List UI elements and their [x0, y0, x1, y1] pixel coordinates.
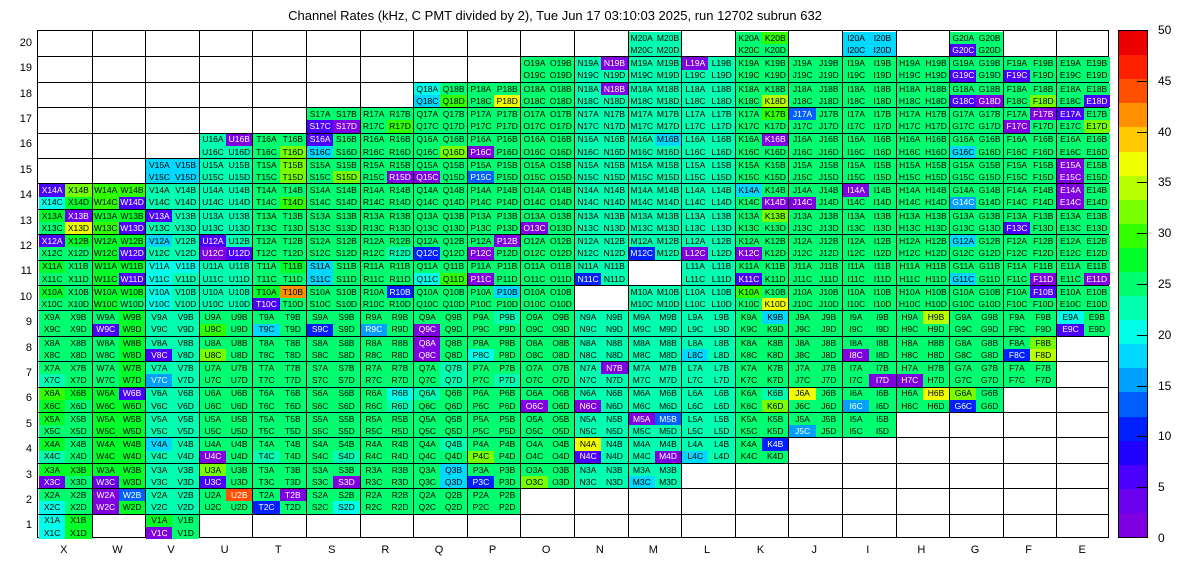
channel-pad[interactable]: M17B	[655, 108, 681, 120]
channel-pad[interactable]: W4C	[93, 451, 119, 463]
channel-pad[interactable]: S13A	[307, 210, 333, 222]
channel-pad[interactable]: P17B	[494, 108, 520, 120]
channel-pad[interactable]: M3B	[655, 464, 681, 476]
channel-pad[interactable]: Q10D	[440, 298, 466, 310]
channel-pad[interactable]: P10A	[468, 286, 494, 298]
channel-pad[interactable]: G20D	[976, 44, 1002, 56]
channel-pad[interactable]: O13B	[548, 210, 574, 222]
detector-module[interactable]: X11AX11BX11CX11D	[39, 261, 92, 285]
channel-pad[interactable]: L4B	[708, 438, 734, 450]
channel-pad[interactable]: H11B	[923, 261, 949, 273]
channel-pad[interactable]: G10A	[950, 286, 976, 298]
channel-pad[interactable]: L19B	[708, 57, 734, 69]
channel-pad[interactable]: L4D	[708, 451, 734, 463]
channel-pad[interactable]: R8C	[361, 349, 387, 361]
channel-pad[interactable]: U10A	[200, 286, 226, 298]
channel-pad[interactable]: W3D	[119, 476, 145, 488]
channel-pad[interactable]: P4B	[494, 438, 520, 450]
channel-pad[interactable]: S16B	[333, 134, 359, 146]
channel-pad[interactable]: H15C	[897, 171, 923, 183]
detector-module[interactable]: G7AG7BG7CG7D	[950, 362, 1003, 386]
channel-pad[interactable]: I14D	[869, 197, 895, 209]
channel-pad[interactable]: J16B	[816, 134, 842, 146]
detector-module[interactable]: T15AT15BT15CT15D	[253, 159, 306, 183]
channel-pad[interactable]: J5B	[816, 413, 842, 425]
detector-module[interactable]: G16AG16BG16CG16D	[950, 134, 1003, 158]
channel-pad[interactable]: M18B	[655, 83, 681, 95]
channel-pad[interactable]: G17D	[976, 120, 1002, 132]
channel-pad[interactable]: S5D	[333, 425, 359, 437]
detector-module[interactable]: X5AX5BX5CX5D	[39, 413, 92, 437]
channel-pad[interactable]: X5C	[39, 425, 65, 437]
channel-pad[interactable]: L5C	[682, 425, 708, 437]
detector-module[interactable]: M4AM4BM4CM4D	[629, 438, 682, 462]
channel-pad[interactable]: J18A	[789, 83, 815, 95]
channel-pad[interactable]: X2C	[39, 501, 65, 513]
channel-pad[interactable]: J10D	[816, 298, 842, 310]
detector-module[interactable]: S9AS9BS9CS9D	[307, 311, 360, 335]
detector-module[interactable]: U14AU14BU14CU14D	[200, 184, 253, 208]
channel-pad[interactable]: N14C	[575, 197, 601, 209]
channel-pad[interactable]: T7C	[253, 374, 279, 386]
channel-pad[interactable]: M12C	[629, 247, 655, 259]
detector-module[interactable]: N11AN11BN11CN11D	[575, 261, 628, 285]
channel-pad[interactable]: Q4A	[414, 438, 440, 450]
channel-pad[interactable]: N12C	[575, 247, 601, 259]
channel-pad[interactable]: Q2A	[414, 489, 440, 501]
channel-pad[interactable]: G11B	[976, 261, 1002, 273]
channel-pad[interactable]: F8C	[1004, 349, 1030, 361]
detector-module[interactable]: T13AT13BT13CT13D	[253, 210, 306, 234]
detector-module[interactable]: G18AG18BG18CG18D	[950, 83, 1003, 107]
channel-pad[interactable]: T12B	[280, 235, 306, 247]
channel-pad[interactable]: W4B	[119, 438, 145, 450]
channel-pad[interactable]: M16B	[655, 134, 681, 146]
channel-pad[interactable]: F7B	[1030, 362, 1056, 374]
channel-pad[interactable]: Q9A	[414, 311, 440, 323]
channel-pad[interactable]: R2D	[387, 501, 413, 513]
channel-pad[interactable]: W5C	[93, 425, 119, 437]
channel-pad[interactable]: J13B	[816, 210, 842, 222]
channel-pad[interactable]: H10B	[923, 286, 949, 298]
channel-pad[interactable]: M18C	[629, 95, 655, 107]
channel-pad[interactable]: I8B	[869, 337, 895, 349]
channel-pad[interactable]: K11B	[762, 261, 788, 273]
channel-pad[interactable]: U13C	[200, 222, 226, 234]
channel-pad[interactable]: H13D	[923, 222, 949, 234]
channel-pad[interactable]: N16A	[575, 134, 601, 146]
channel-pad[interactable]: E13A	[1057, 210, 1083, 222]
detector-module[interactable]: K9AK9BK9CK9D	[736, 311, 789, 335]
detector-module[interactable]: G17AG17BG17CG17D	[950, 108, 1003, 132]
channel-pad[interactable]: H12C	[897, 247, 923, 259]
channel-pad[interactable]: E16D	[1084, 146, 1110, 158]
detector-module[interactable]: F18AF18BF18CF18D	[1004, 83, 1057, 107]
channel-pad[interactable]: V6D	[172, 400, 198, 412]
channel-pad[interactable]: H15D	[923, 171, 949, 183]
channel-pad[interactable]: K10B	[762, 286, 788, 298]
channel-pad[interactable]: M15A	[629, 159, 655, 171]
channel-pad[interactable]: T3A	[253, 464, 279, 476]
channel-pad[interactable]: K7D	[762, 374, 788, 386]
channel-pad[interactable]: W8C	[93, 349, 119, 361]
channel-pad[interactable]: F13B	[1030, 210, 1056, 222]
channel-pad[interactable]: T14D	[280, 197, 306, 209]
channel-pad[interactable]: X9B	[65, 311, 91, 323]
channel-pad[interactable]: R12B	[387, 235, 413, 247]
channel-pad[interactable]: N5B	[601, 413, 627, 425]
channel-pad[interactable]: J11B	[816, 261, 842, 273]
channel-pad[interactable]: X6C	[39, 400, 65, 412]
channel-pad[interactable]: X5D	[65, 425, 91, 437]
channel-pad[interactable]: S10C	[307, 298, 333, 310]
channel-pad[interactable]: U2A	[200, 489, 226, 501]
detector-module[interactable]: Q4AQ4BQ4CQ4D	[414, 438, 467, 462]
detector-module[interactable]: K20AK20BK20CK20D	[736, 32, 789, 56]
detector-module[interactable]: U15AU15BU15CU15D	[200, 159, 253, 183]
channel-pad[interactable]: X11B	[65, 261, 91, 273]
channel-pad[interactable]: X6D	[65, 400, 91, 412]
channel-pad[interactable]: T7D	[280, 374, 306, 386]
detector-module[interactable]: K7AK7BK7CK7D	[736, 362, 789, 386]
channel-pad[interactable]: R5D	[387, 425, 413, 437]
channel-pad[interactable]: S3D	[333, 476, 359, 488]
channel-pad[interactable]: X1A	[39, 515, 65, 527]
channel-pad[interactable]: U9A	[200, 311, 226, 323]
detector-module[interactable]: K11AK11BK11CK11D	[736, 261, 789, 285]
channel-pad[interactable]: G20C	[950, 44, 976, 56]
channel-pad[interactable]: R10B	[387, 286, 413, 298]
detector-module[interactable]: I17AI17BI17CI17D	[843, 108, 896, 132]
channel-pad[interactable]: N19A	[575, 57, 601, 69]
channel-pad[interactable]: K12B	[762, 235, 788, 247]
channel-pad[interactable]: F16C	[1004, 146, 1030, 158]
channel-pad[interactable]: V7D	[172, 374, 198, 386]
channel-pad[interactable]: G7A	[950, 362, 976, 374]
detector-module[interactable]: T5AT5BT5CT5D	[253, 413, 306, 437]
channel-pad[interactable]: J6B	[816, 388, 842, 400]
channel-pad[interactable]: K18C	[736, 95, 762, 107]
detector-module[interactable]: O8AO8BO8CO8D	[521, 337, 574, 361]
channel-pad[interactable]: I15A	[843, 159, 869, 171]
detector-module[interactable]: O15AO15BO15CO15D	[521, 159, 574, 183]
channel-pad[interactable]: K10D	[762, 298, 788, 310]
channel-pad[interactable]: T14B	[280, 184, 306, 196]
detector-module[interactable]: S3AS3BS3CS3D	[307, 464, 360, 488]
channel-pad[interactable]: L5B	[708, 413, 734, 425]
channel-pad[interactable]: F18D	[1030, 95, 1056, 107]
channel-pad[interactable]: R12C	[361, 247, 387, 259]
channel-pad[interactable]: W11C	[93, 273, 119, 285]
channel-pad[interactable]: M6C	[629, 400, 655, 412]
channel-pad[interactable]: U14D	[226, 197, 252, 209]
channel-pad[interactable]: F9C	[1004, 324, 1030, 336]
channel-pad[interactable]: I6A	[843, 388, 869, 400]
channel-pad[interactable]: G7D	[976, 374, 1002, 386]
channel-pad[interactable]: U6B	[226, 388, 252, 400]
detector-module[interactable]: P8AP8BP8CP8D	[468, 337, 521, 361]
channel-pad[interactable]: T16C	[253, 146, 279, 158]
channel-pad[interactable]: S13B	[333, 210, 359, 222]
channel-pad[interactable]: S15C	[307, 171, 333, 183]
channel-pad[interactable]: W2A	[93, 489, 119, 501]
channel-pad[interactable]: V7A	[146, 362, 172, 374]
detector-module[interactable]: P4AP4BP4CP4D	[468, 438, 521, 462]
channel-pad[interactable]: P2D	[494, 501, 520, 513]
detector-module[interactable]: Q14AQ14BQ14CQ14D	[414, 184, 467, 208]
detector-module[interactable]: L6AL6BL6CL6D	[682, 388, 735, 412]
detector-module[interactable]: F12AF12BF12CF12D	[1004, 235, 1057, 259]
channel-pad[interactable]: R2B	[387, 489, 413, 501]
detector-module[interactable]: E18AE18BE18CE18D	[1057, 83, 1110, 107]
detector-module[interactable]: I20AI20BI20CI20D	[843, 32, 896, 56]
channel-pad[interactable]: N14A	[575, 184, 601, 196]
channel-pad[interactable]: I14B	[869, 184, 895, 196]
channel-pad[interactable]: R6B	[387, 388, 413, 400]
channel-pad[interactable]: K11C	[736, 273, 762, 285]
channel-pad[interactable]: U2C	[200, 501, 226, 513]
channel-pad[interactable]: T12A	[253, 235, 279, 247]
channel-pad[interactable]: N17C	[575, 120, 601, 132]
channel-pad[interactable]: E15C	[1057, 171, 1083, 183]
channel-pad[interactable]: N4D	[601, 451, 627, 463]
channel-pad[interactable]: S17B	[333, 108, 359, 120]
channel-pad[interactable]: P13B	[494, 210, 520, 222]
channel-pad[interactable]: M4C	[629, 451, 655, 463]
channel-pad[interactable]: F14D	[1030, 197, 1056, 209]
channel-pad[interactable]: R5C	[361, 425, 387, 437]
channel-pad[interactable]: M20A	[629, 32, 655, 44]
channel-pad[interactable]: F10C	[1004, 298, 1030, 310]
channel-pad[interactable]: U14A	[200, 184, 226, 196]
detector-module[interactable]: X8AX8BX8CX8D	[39, 337, 92, 361]
channel-pad[interactable]: H18B	[923, 83, 949, 95]
detector-module[interactable]: R2AR2BR2CR2D	[361, 489, 414, 513]
channel-pad[interactable]: H13C	[897, 222, 923, 234]
detector-module[interactable]: K6AK6BK6CK6D	[736, 388, 789, 412]
channel-pad[interactable]: G10C	[950, 298, 976, 310]
channel-pad[interactable]: R10A	[361, 286, 387, 298]
channel-pad[interactable]: S15D	[333, 171, 359, 183]
detector-module[interactable]: P16AP16BP16CP16D	[468, 134, 521, 158]
channel-pad[interactable]: T16B	[280, 134, 306, 146]
channel-pad[interactable]: F15D	[1030, 171, 1056, 183]
detector-module[interactable]: K10AK10BK10CK10D	[736, 286, 789, 310]
channel-pad[interactable]: S17D	[333, 120, 359, 132]
channel-pad[interactable]: U16C	[200, 146, 226, 158]
channel-pad[interactable]: N13A	[575, 210, 601, 222]
channel-pad[interactable]: Q4B	[440, 438, 466, 450]
channel-pad[interactable]: M4D	[655, 451, 681, 463]
channel-pad[interactable]: U6A	[200, 388, 226, 400]
channel-pad[interactable]: K19A	[736, 57, 762, 69]
channel-pad[interactable]: L17A	[682, 108, 708, 120]
channel-pad[interactable]: K8A	[736, 337, 762, 349]
channel-pad[interactable]: L14C	[682, 197, 708, 209]
detector-module[interactable]: W6AW6BW6CW6D	[93, 388, 146, 412]
channel-pad[interactable]: I7B	[869, 362, 895, 374]
channel-pad[interactable]: O3D	[548, 476, 574, 488]
channel-pad[interactable]: U15D	[226, 171, 252, 183]
channel-pad[interactable]: E18C	[1057, 95, 1083, 107]
channel-pad[interactable]: R14C	[361, 197, 387, 209]
channel-pad[interactable]: G8D	[976, 349, 1002, 361]
detector-module[interactable]: V9AV9BV9CV9D	[146, 311, 199, 335]
detector-module[interactable]: N7AN7BN7CN7D	[575, 362, 628, 386]
channel-pad[interactable]: P16D	[494, 146, 520, 158]
channel-pad[interactable]: V4A	[146, 438, 172, 450]
channel-pad[interactable]: T8A	[253, 337, 279, 349]
channel-pad[interactable]: M9B	[655, 311, 681, 323]
detector-module[interactable]: Q5AQ5BQ5CQ5D	[414, 413, 467, 437]
channel-pad[interactable]: F11C	[1004, 273, 1030, 285]
channel-pad[interactable]: F17A	[1004, 108, 1030, 120]
channel-pad[interactable]: Q16D	[440, 146, 466, 158]
channel-pad[interactable]: S13C	[307, 222, 333, 234]
channel-pad[interactable]: T6D	[280, 400, 306, 412]
channel-pad[interactable]: Q16C	[414, 146, 440, 158]
channel-pad[interactable]: K14B	[762, 184, 788, 196]
detector-module[interactable]: S17AS17BS17CS17D	[307, 108, 360, 132]
channel-pad[interactable]: R8B	[387, 337, 413, 349]
detector-module[interactable]: W3AW3BW3CW3D	[93, 464, 146, 488]
channel-pad[interactable]: R8A	[361, 337, 387, 349]
channel-pad[interactable]: O11C	[521, 273, 547, 285]
channel-pad[interactable]: O18D	[548, 95, 574, 107]
detector-module[interactable]: S11AS11BS11CS11D	[307, 261, 360, 285]
channel-pad[interactable]: H8B	[923, 337, 949, 349]
channel-pad[interactable]: P11C	[468, 273, 494, 285]
channel-pad[interactable]: K4B	[762, 438, 788, 450]
channel-pad[interactable]: R11D	[387, 273, 413, 285]
channel-pad[interactable]: J13D	[816, 222, 842, 234]
detector-module[interactable]: J5AJ5BJ5CJ5D	[789, 413, 842, 437]
detector-module[interactable]: M10AM10BM10CM10D	[629, 286, 682, 310]
channel-pad[interactable]: I18D	[869, 95, 895, 107]
channel-pad[interactable]: X7B	[65, 362, 91, 374]
channel-pad[interactable]: R10D	[387, 298, 413, 310]
channel-pad[interactable]: M18A	[629, 83, 655, 95]
channel-pad[interactable]: X4B	[65, 438, 91, 450]
channel-pad[interactable]: L8C	[682, 349, 708, 361]
channel-pad[interactable]: S2D	[333, 501, 359, 513]
channel-pad[interactable]: K17A	[736, 108, 762, 120]
channel-pad[interactable]: V9C	[146, 324, 172, 336]
channel-pad[interactable]: V12B	[172, 235, 198, 247]
detector-module[interactable]: U11AU11BU11CU11D	[200, 261, 253, 285]
channel-pad[interactable]: U16A	[200, 134, 226, 146]
channel-pad[interactable]: W9D	[119, 324, 145, 336]
channel-pad[interactable]: R8D	[387, 349, 413, 361]
channel-pad[interactable]: R4B	[387, 438, 413, 450]
detector-module[interactable]: K4AK4BK4CK4D	[736, 438, 789, 462]
channel-pad[interactable]: J15D	[816, 171, 842, 183]
channel-pad[interactable]: M14A	[629, 184, 655, 196]
channel-pad[interactable]: S6B	[333, 388, 359, 400]
channel-pad[interactable]: N6A	[575, 388, 601, 400]
channel-pad[interactable]: W7B	[119, 362, 145, 374]
detector-module[interactable]: J6AJ6BJ6CJ6D	[789, 388, 842, 412]
channel-pad[interactable]: X10A	[39, 286, 65, 298]
channel-pad[interactable]: J5D	[816, 425, 842, 437]
channel-pad[interactable]: P9A	[468, 311, 494, 323]
channel-pad[interactable]: X10B	[65, 286, 91, 298]
detector-module[interactable]: K12AK12BK12CK12D	[736, 235, 789, 259]
channel-pad[interactable]: T10A	[253, 286, 279, 298]
detector-module[interactable]: Q3AQ3BQ3CQ3D	[414, 464, 467, 488]
channel-pad[interactable]: U10C	[200, 298, 226, 310]
channel-pad[interactable]: R6A	[361, 388, 387, 400]
channel-pad[interactable]: G13A	[950, 210, 976, 222]
channel-pad[interactable]: O7D	[548, 374, 574, 386]
detector-module[interactable]: H10AH10BH10CH10D	[897, 286, 950, 310]
channel-pad[interactable]: F9A	[1004, 311, 1030, 323]
channel-pad[interactable]: V8B	[172, 337, 198, 349]
channel-pad[interactable]: R4D	[387, 451, 413, 463]
channel-pad[interactable]: Q16A	[414, 134, 440, 146]
channel-pad[interactable]: N12A	[575, 235, 601, 247]
channel-pad[interactable]: I9A	[843, 311, 869, 323]
channel-pad[interactable]: P3C	[468, 476, 494, 488]
detector-module[interactable]: H16AH16BH16CH16D	[897, 134, 950, 158]
channel-pad[interactable]: N19C	[575, 70, 601, 82]
channel-pad[interactable]: O17A	[521, 108, 547, 120]
channel-pad[interactable]: N17A	[575, 108, 601, 120]
channel-pad[interactable]: U15C	[200, 171, 226, 183]
channel-pad[interactable]: E13C	[1057, 222, 1083, 234]
channel-pad[interactable]: O8B	[548, 337, 574, 349]
channel-pad[interactable]: S2C	[307, 501, 333, 513]
channel-pad[interactable]: V1D	[172, 527, 198, 539]
channel-pad[interactable]: T2B	[280, 489, 306, 501]
channel-pad[interactable]: R7D	[387, 374, 413, 386]
channel-pad[interactable]: W10C	[93, 298, 119, 310]
channel-pad[interactable]: K4D	[762, 451, 788, 463]
detector-module[interactable]: S10AS10BS10CS10D	[307, 286, 360, 310]
channel-pad[interactable]: G19D	[976, 70, 1002, 82]
channel-pad[interactable]: S4B	[333, 438, 359, 450]
channel-pad[interactable]: X9D	[65, 324, 91, 336]
channel-pad[interactable]: M17D	[655, 120, 681, 132]
detector-module[interactable]: U6AU6BU6CU6D	[200, 388, 253, 412]
channel-pad[interactable]: V6B	[172, 388, 198, 400]
detector-module[interactable]: P17AP17BP17CP17D	[468, 108, 521, 132]
channel-pad[interactable]: F19D	[1030, 70, 1056, 82]
detector-module[interactable]: F10AF10BF10CF10D	[1004, 286, 1057, 310]
channel-pad[interactable]: V3B	[172, 464, 198, 476]
channel-pad[interactable]: O16D	[548, 146, 574, 158]
channel-pad[interactable]: N11A	[575, 261, 601, 273]
channel-pad[interactable]: H7A	[897, 362, 923, 374]
detector-module[interactable]: U2AU2BU2CU2D	[200, 489, 253, 513]
channel-pad[interactable]: I15C	[843, 171, 869, 183]
channel-pad[interactable]: I11C	[843, 273, 869, 285]
channel-pad[interactable]: V5A	[146, 413, 172, 425]
detector-module[interactable]: S16AS16BS16CS16D	[307, 134, 360, 158]
channel-pad[interactable]: M8D	[655, 349, 681, 361]
channel-pad[interactable]: T12C	[253, 247, 279, 259]
channel-pad[interactable]: M9D	[655, 324, 681, 336]
detector-module[interactable]: M18AM18BM18CM18D	[629, 83, 682, 107]
channel-pad[interactable]: R15B	[387, 159, 413, 171]
channel-pad[interactable]: F19C	[1004, 70, 1030, 82]
detector-module[interactable]: X7AX7BX7CX7D	[39, 362, 92, 386]
detector-module[interactable]: V6AV6BV6CV6D	[146, 388, 199, 412]
detector-module[interactable]: L18AL18BL18CL18D	[682, 83, 735, 107]
channel-pad[interactable]: K4C	[736, 451, 762, 463]
channel-pad[interactable]: O16A	[521, 134, 547, 146]
channel-pad[interactable]: X6A	[39, 388, 65, 400]
